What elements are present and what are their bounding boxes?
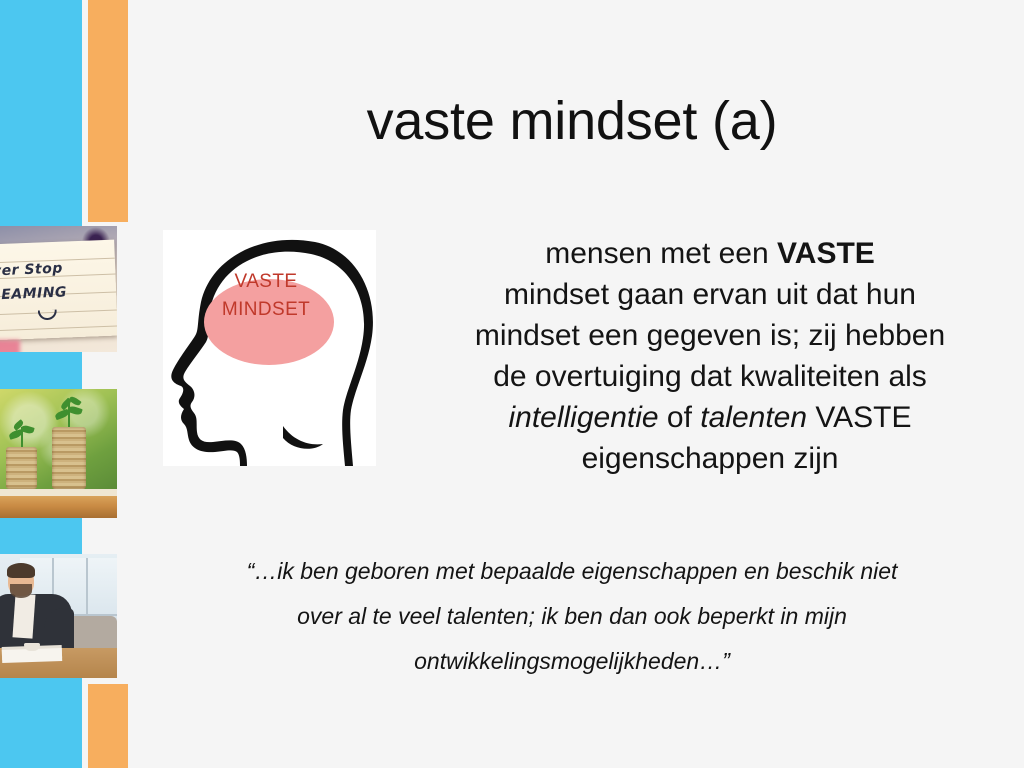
blue-accent-bar-middle-lower xyxy=(0,518,82,554)
quote-block: “…ik ben geboren met bepaalde eigenschap… xyxy=(150,549,994,684)
pink-blur-accent xyxy=(0,340,20,352)
coin-stack-tall xyxy=(52,427,86,489)
photo-never-stop-dreaming: ver Stop REAMING xyxy=(0,226,117,352)
quote-line-2: over al te veel talenten; ik ben dan ook… xyxy=(297,603,847,629)
photo-businessman-at-desk xyxy=(0,554,117,678)
body-paragraph: mensen met een VASTE mindset gaan ervan … xyxy=(420,233,1000,480)
head-outline-icon xyxy=(163,230,376,466)
man-beard xyxy=(10,584,32,598)
body-line-1-plain: mensen met een xyxy=(545,237,777,270)
blue-accent-bar-top xyxy=(0,0,82,226)
slide-title: vaste mindset (a) xyxy=(150,92,994,151)
body-line-3: mindset een gegeven is; zij hebben xyxy=(475,319,945,352)
body-italic-talenten: talenten xyxy=(700,401,807,434)
quote-line-3: ontwikkelingsmogelijkheden…” xyxy=(414,648,730,674)
wooden-board xyxy=(0,496,117,518)
orange-accent-bar-bottom xyxy=(88,684,128,768)
body-line-2: mindset gaan ervan uit dat hun xyxy=(504,278,916,311)
quote-line-1: “…ik ben geboren met bepaalde eigenschap… xyxy=(247,558,898,584)
blue-accent-bar-bottom xyxy=(0,678,82,768)
coin-stack-short xyxy=(6,447,37,489)
blue-accent-bar-middle-upper xyxy=(0,352,82,389)
body-italic-intelligentie: intelligentie xyxy=(508,401,658,434)
body-line-1-bold: VASTE xyxy=(777,237,875,270)
slide-canvas: ver Stop REAMING xyxy=(0,0,1024,768)
man-shirt xyxy=(12,593,35,638)
body-line-5-end: VASTE xyxy=(807,401,911,434)
table-surface xyxy=(0,489,117,496)
man-arm xyxy=(44,608,74,648)
head-silhouette-figure: VASTE MINDSET xyxy=(163,230,376,466)
body-line-6: eigenschappen zijn xyxy=(582,442,839,475)
man-hair xyxy=(7,563,35,578)
body-line-5-mid: of xyxy=(659,401,701,434)
orange-accent-bar-top xyxy=(88,0,128,222)
handwriting-line-1: ver Stop xyxy=(0,260,63,279)
body-line-4: de overtuiging dat kwaliteiten als xyxy=(493,360,927,393)
photo-coins-with-plants xyxy=(0,389,117,518)
